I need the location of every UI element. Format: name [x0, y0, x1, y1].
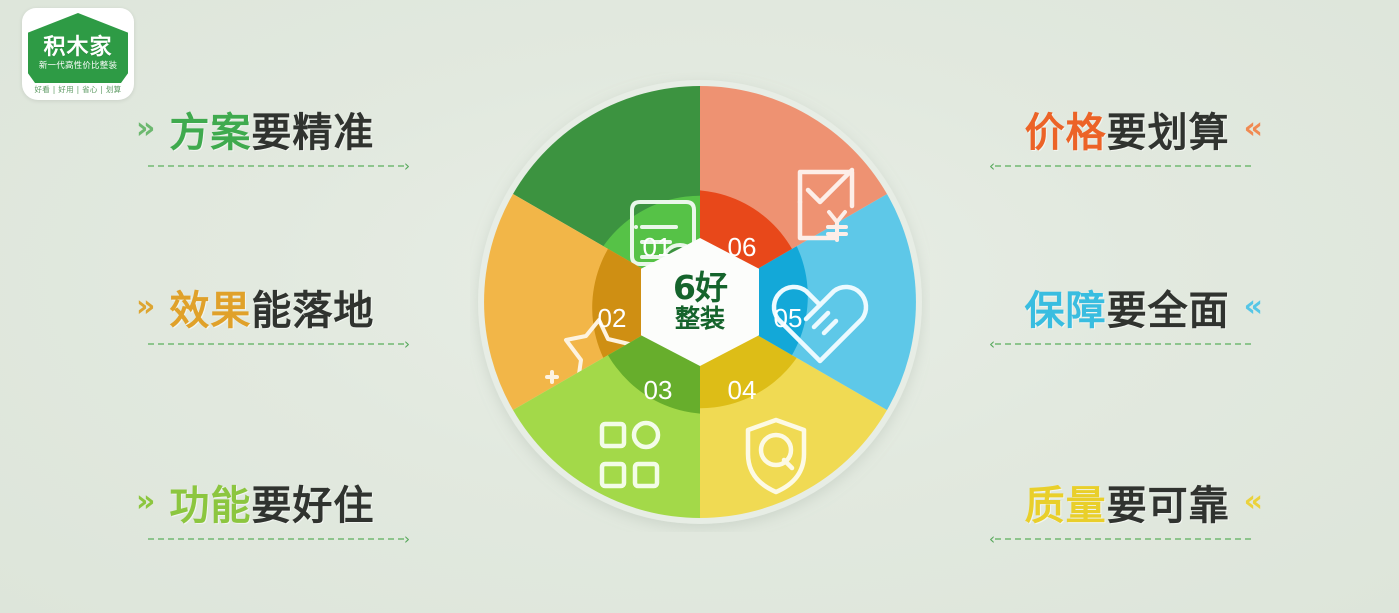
label-left-3-highlight: 功能 — [169, 483, 251, 529]
chevron-left-icon: « — [1244, 487, 1263, 517]
six-segment-wheel: 01 — [470, 72, 930, 532]
label-right-3-text: 质量要可靠 — [1025, 473, 1230, 531]
label-right-2-rest: 要全面 — [1107, 288, 1230, 334]
connector-left-3: › — [148, 533, 410, 545]
center-title-line2: 整装 — [675, 306, 725, 332]
logo-card: 积木家 新一代高性价比整装 好看 | 好用 | 省心 | 划算 — [22, 8, 134, 100]
brand-logo: 积木家 新一代高性价比整装 好看 | 好用 | 省心 | 划算 — [22, 8, 134, 100]
arrow-right-icon: › — [404, 337, 410, 352]
connector-right-3: ‹ — [989, 533, 1251, 545]
label-left-1-rest: 要精准 — [251, 110, 374, 156]
arrow-right-icon: › — [404, 532, 410, 547]
segment-05-number: 05 — [774, 303, 803, 333]
dashed-line — [995, 343, 1251, 345]
label-right-3-rest: 要可靠 — [1107, 483, 1230, 529]
label-left-2[interactable]: » 效果能落地 — [136, 270, 374, 344]
arrow-right-icon: › — [404, 159, 410, 174]
logo-brand-name: 积木家 — [28, 29, 128, 61]
label-right-1-highlight: 价格 — [1025, 110, 1107, 156]
connector-right-1: ‹ — [989, 160, 1251, 172]
chevron-left-icon: « — [1244, 114, 1263, 144]
label-left-1-text: 方案要精准 — [169, 100, 374, 158]
logo-slogan: 新一代高性价比整装 — [28, 59, 128, 71]
dashed-line — [995, 538, 1251, 540]
logo-house-shape: 积木家 新一代高性价比整装 — [28, 13, 128, 83]
label-right-3-highlight: 质量 — [1025, 483, 1107, 529]
dashed-line — [148, 165, 404, 167]
segment-04-number: 04 — [728, 375, 757, 405]
chevron-right-icon: » — [136, 292, 155, 322]
label-right-2[interactable]: 保障要全面 « — [1025, 270, 1263, 344]
label-left-1-highlight: 方案 — [169, 110, 251, 156]
dashed-line — [148, 343, 404, 345]
chevron-left-icon: « — [1244, 292, 1263, 322]
connector-left-2: › — [148, 338, 410, 350]
connector-right-2: ‹ — [989, 338, 1251, 350]
center-title-line1: 6好 — [673, 272, 727, 304]
label-right-1-text: 价格要划算 — [1025, 100, 1230, 158]
label-right-1[interactable]: 价格要划算 « — [1025, 92, 1263, 166]
label-right-1-rest: 要划算 — [1107, 110, 1230, 156]
chevron-right-icon: » — [136, 487, 155, 517]
dashed-line — [995, 165, 1251, 167]
segment-03-number: 03 — [644, 375, 673, 405]
label-right-2-text: 保障要全面 — [1025, 278, 1230, 336]
connector-left-1: › — [148, 160, 410, 172]
label-left-3[interactable]: » 功能要好住 — [136, 465, 374, 539]
label-left-2-highlight: 效果 — [169, 288, 251, 334]
label-left-1[interactable]: » 方案要精准 — [136, 92, 374, 166]
infographic-canvas: 积木家 新一代高性价比整装 好看 | 好用 | 省心 | 划算 » 方案要精准 … — [0, 0, 1399, 613]
dashed-line — [148, 538, 404, 540]
logo-tagline: 好看 | 好用 | 省心 | 划算 — [22, 84, 134, 95]
label-left-2-rest: 能落地 — [251, 288, 374, 334]
label-left-2-text: 效果能落地 — [169, 278, 374, 336]
label-right-3[interactable]: 质量要可靠 « — [1025, 465, 1263, 539]
chevron-right-icon: » — [136, 114, 155, 144]
segment-02-number: 02 — [598, 303, 627, 333]
label-right-2-highlight: 保障 — [1025, 288, 1107, 334]
label-left-3-rest: 要好住 — [251, 483, 374, 529]
label-left-3-text: 功能要好住 — [169, 473, 374, 531]
